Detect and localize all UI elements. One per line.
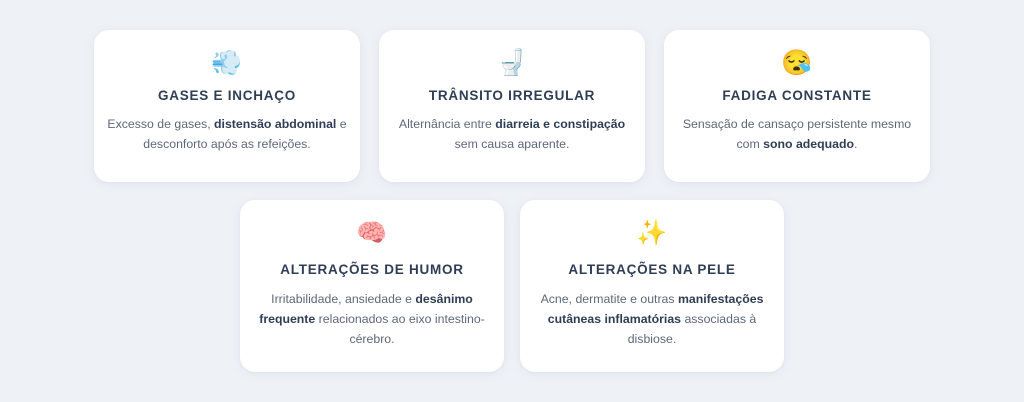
card-title: TRÂNSITO IRREGULAR <box>429 88 595 104</box>
symptom-card-gases-e-inchaco: 💨 GASES E INCHAÇO Excesso de gases, dist… <box>94 30 360 182</box>
card-title: FADIGA CONSTANTE <box>722 88 871 104</box>
toilet-icon: 🚽 <box>496 48 527 78</box>
symptom-card-alteracoes-de-humor: 🧠 ALTERAÇÕES DE HUMOR Irritabilidade, an… <box>240 200 504 372</box>
card-description: Alternância entre diarreia e constipação… <box>392 115 632 155</box>
brain-icon: 🧠 <box>356 218 387 248</box>
card-title: ALTERAÇÕES NA PELE <box>568 262 735 278</box>
sparkles-icon: ✨ <box>636 218 667 248</box>
card-description: Sensação de cansaço persistente mesmo co… <box>677 115 917 155</box>
card-title: ALTERAÇÕES DE HUMOR <box>280 262 464 278</box>
dashing-away-icon: 💨 <box>211 48 242 78</box>
symptom-card-transito-irregular: 🚽 TRÂNSITO IRREGULAR Alternância entre d… <box>379 30 645 182</box>
symptom-card-row-top: 💨 GASES E INCHAÇO Excesso de gases, dist… <box>0 0 1024 182</box>
symptom-card-fadiga-constante: 😪 FADIGA CONSTANTE Sensação de cansaço p… <box>664 30 930 182</box>
card-title: GASES E INCHAÇO <box>158 88 296 104</box>
card-description: Irritabilidade, ansiedade e desânimo fre… <box>254 290 490 350</box>
sleepy-face-icon: 😪 <box>781 48 812 78</box>
card-description: Acne, dermatite e outras manifestações c… <box>534 290 770 350</box>
symptom-card-row-bottom: 🧠 ALTERAÇÕES DE HUMOR Irritabilidade, an… <box>0 182 1024 372</box>
symptom-card-board: 💨 GASES E INCHAÇO Excesso de gases, dist… <box>0 0 1024 402</box>
symptom-card-alteracoes-na-pele: ✨ ALTERAÇÕES NA PELE Acne, dermatite e o… <box>520 200 784 372</box>
card-description: Excesso de gases, distensão abdominal e … <box>107 115 347 155</box>
